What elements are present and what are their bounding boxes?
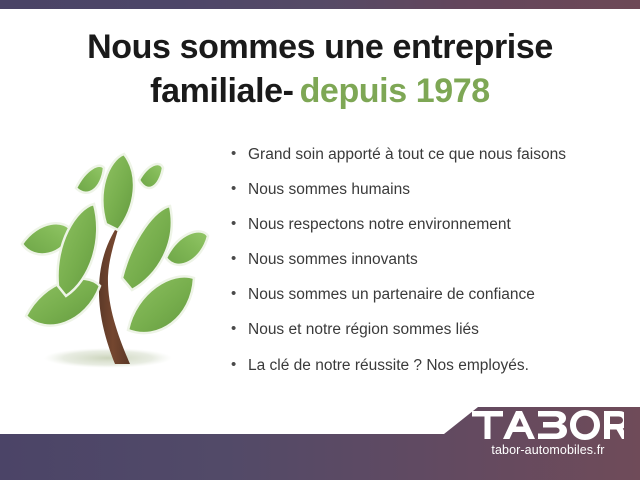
tree-leaf [139,164,163,188]
list-item: Nous sommes innovants [230,251,630,270]
tree-trunk [99,222,130,364]
list-item: Nous sommes humains [230,181,630,200]
list-item: Nous respectons notre environnement [230,216,630,235]
top-accent-band [0,0,640,9]
tree-leaf [122,206,172,290]
title-dash: - [283,72,300,110]
tabor-logo [472,410,624,440]
tree-leaf [102,154,134,230]
slide-root: Nous sommes une entreprise familiale-dep… [0,0,640,480]
title-line-2-main: familiale [150,72,282,110]
page-title: Nous sommes une entreprise familiale-dep… [0,26,640,113]
tree-illustration [8,146,223,396]
list-item: Grand soin apporté à tout ce que nous fa… [230,146,630,165]
title-line-2: familiale-depuis 1978 [0,70,640,114]
brand-lockup: tabor-automobiles.fr [464,408,632,457]
tree-shadow [44,348,172,368]
value-list: Grand soin apporté à tout ce que nous fa… [230,146,630,392]
title-line-1: Nous sommes une entreprise [0,26,640,70]
tree-leaf [76,166,104,193]
brand-tagline: tabor-automobiles.fr [464,443,632,457]
footer-band: tabor-automobiles.fr [0,400,640,480]
title-accent: depuis 1978 [300,72,490,110]
list-item: La clé de notre réussite ? Nos employés. [230,357,630,376]
list-item: Nous et notre région sommes liés [230,321,630,340]
tree-leaf [166,231,208,264]
list-item: Nous sommes un partenaire de confiance [230,286,630,305]
